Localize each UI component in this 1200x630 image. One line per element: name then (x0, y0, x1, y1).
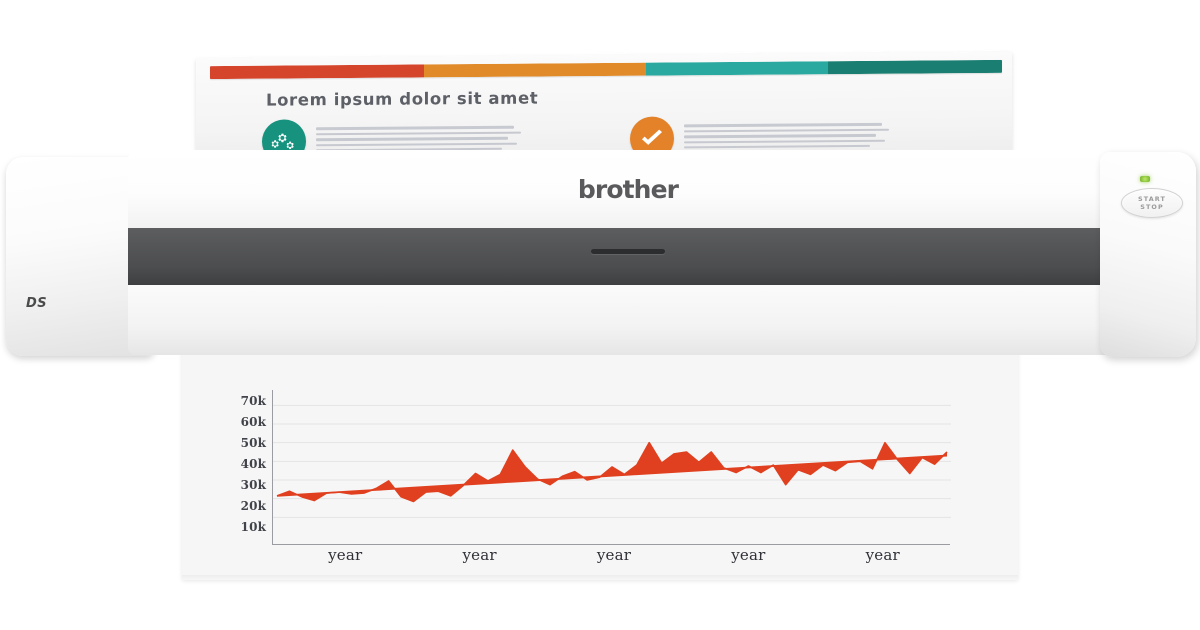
segment-red (210, 64, 424, 79)
series-area (277, 443, 947, 502)
x-tick-label: year (328, 546, 362, 564)
x-tick-label: year (462, 546, 496, 564)
color-bar (210, 60, 1002, 79)
brother-logo: brother (578, 175, 678, 204)
product-photo-scene: Lorem ipsum dolor sit amet (0, 0, 1200, 630)
y-tick-label: 70k (241, 394, 266, 408)
start-stop-label-line2: STOP (1140, 203, 1163, 211)
x-tick-label: year (597, 546, 631, 564)
document-scanner: brother DS START STOP (6, 150, 1194, 365)
area-chart: 70k60k50k40k30k20k10k yearyearyearyearye… (226, 390, 950, 568)
output-document-title: Lorem ipsum dolor sit amet (266, 85, 998, 110)
scanner-body-dark-band (128, 223, 1128, 285)
chart-y-axis-labels: 70k60k50k40k30k20k10k (226, 394, 266, 534)
scanner-center-slot (591, 249, 665, 254)
x-tick-label: year (731, 546, 765, 564)
y-tick-label: 40k (241, 457, 266, 471)
y-tick-label: 10k (241, 520, 266, 534)
scanner-model-label: DS (26, 296, 47, 311)
scanner-right-end-cap: START STOP (1100, 152, 1196, 357)
chart-x-axis-labels: yearyearyearyearyear (278, 546, 950, 564)
x-tick-label: year (866, 546, 900, 564)
segment-teal (646, 61, 828, 75)
y-tick-label: 60k (241, 415, 266, 429)
scanner-body-lower (128, 283, 1128, 355)
power-led-icon (1140, 176, 1150, 182)
segment-orange (424, 63, 646, 78)
y-tick-label: 50k (241, 436, 266, 450)
chart-svg (273, 390, 951, 545)
scanner-body-top: brother (128, 150, 1128, 228)
segment-dark-teal (828, 60, 1002, 74)
start-stop-label-line1: START (1138, 195, 1166, 203)
y-tick-label: 20k (241, 499, 266, 513)
start-stop-button[interactable]: START STOP (1121, 188, 1183, 218)
chart-plot-area (272, 390, 950, 545)
y-tick-label: 30k (241, 478, 266, 492)
